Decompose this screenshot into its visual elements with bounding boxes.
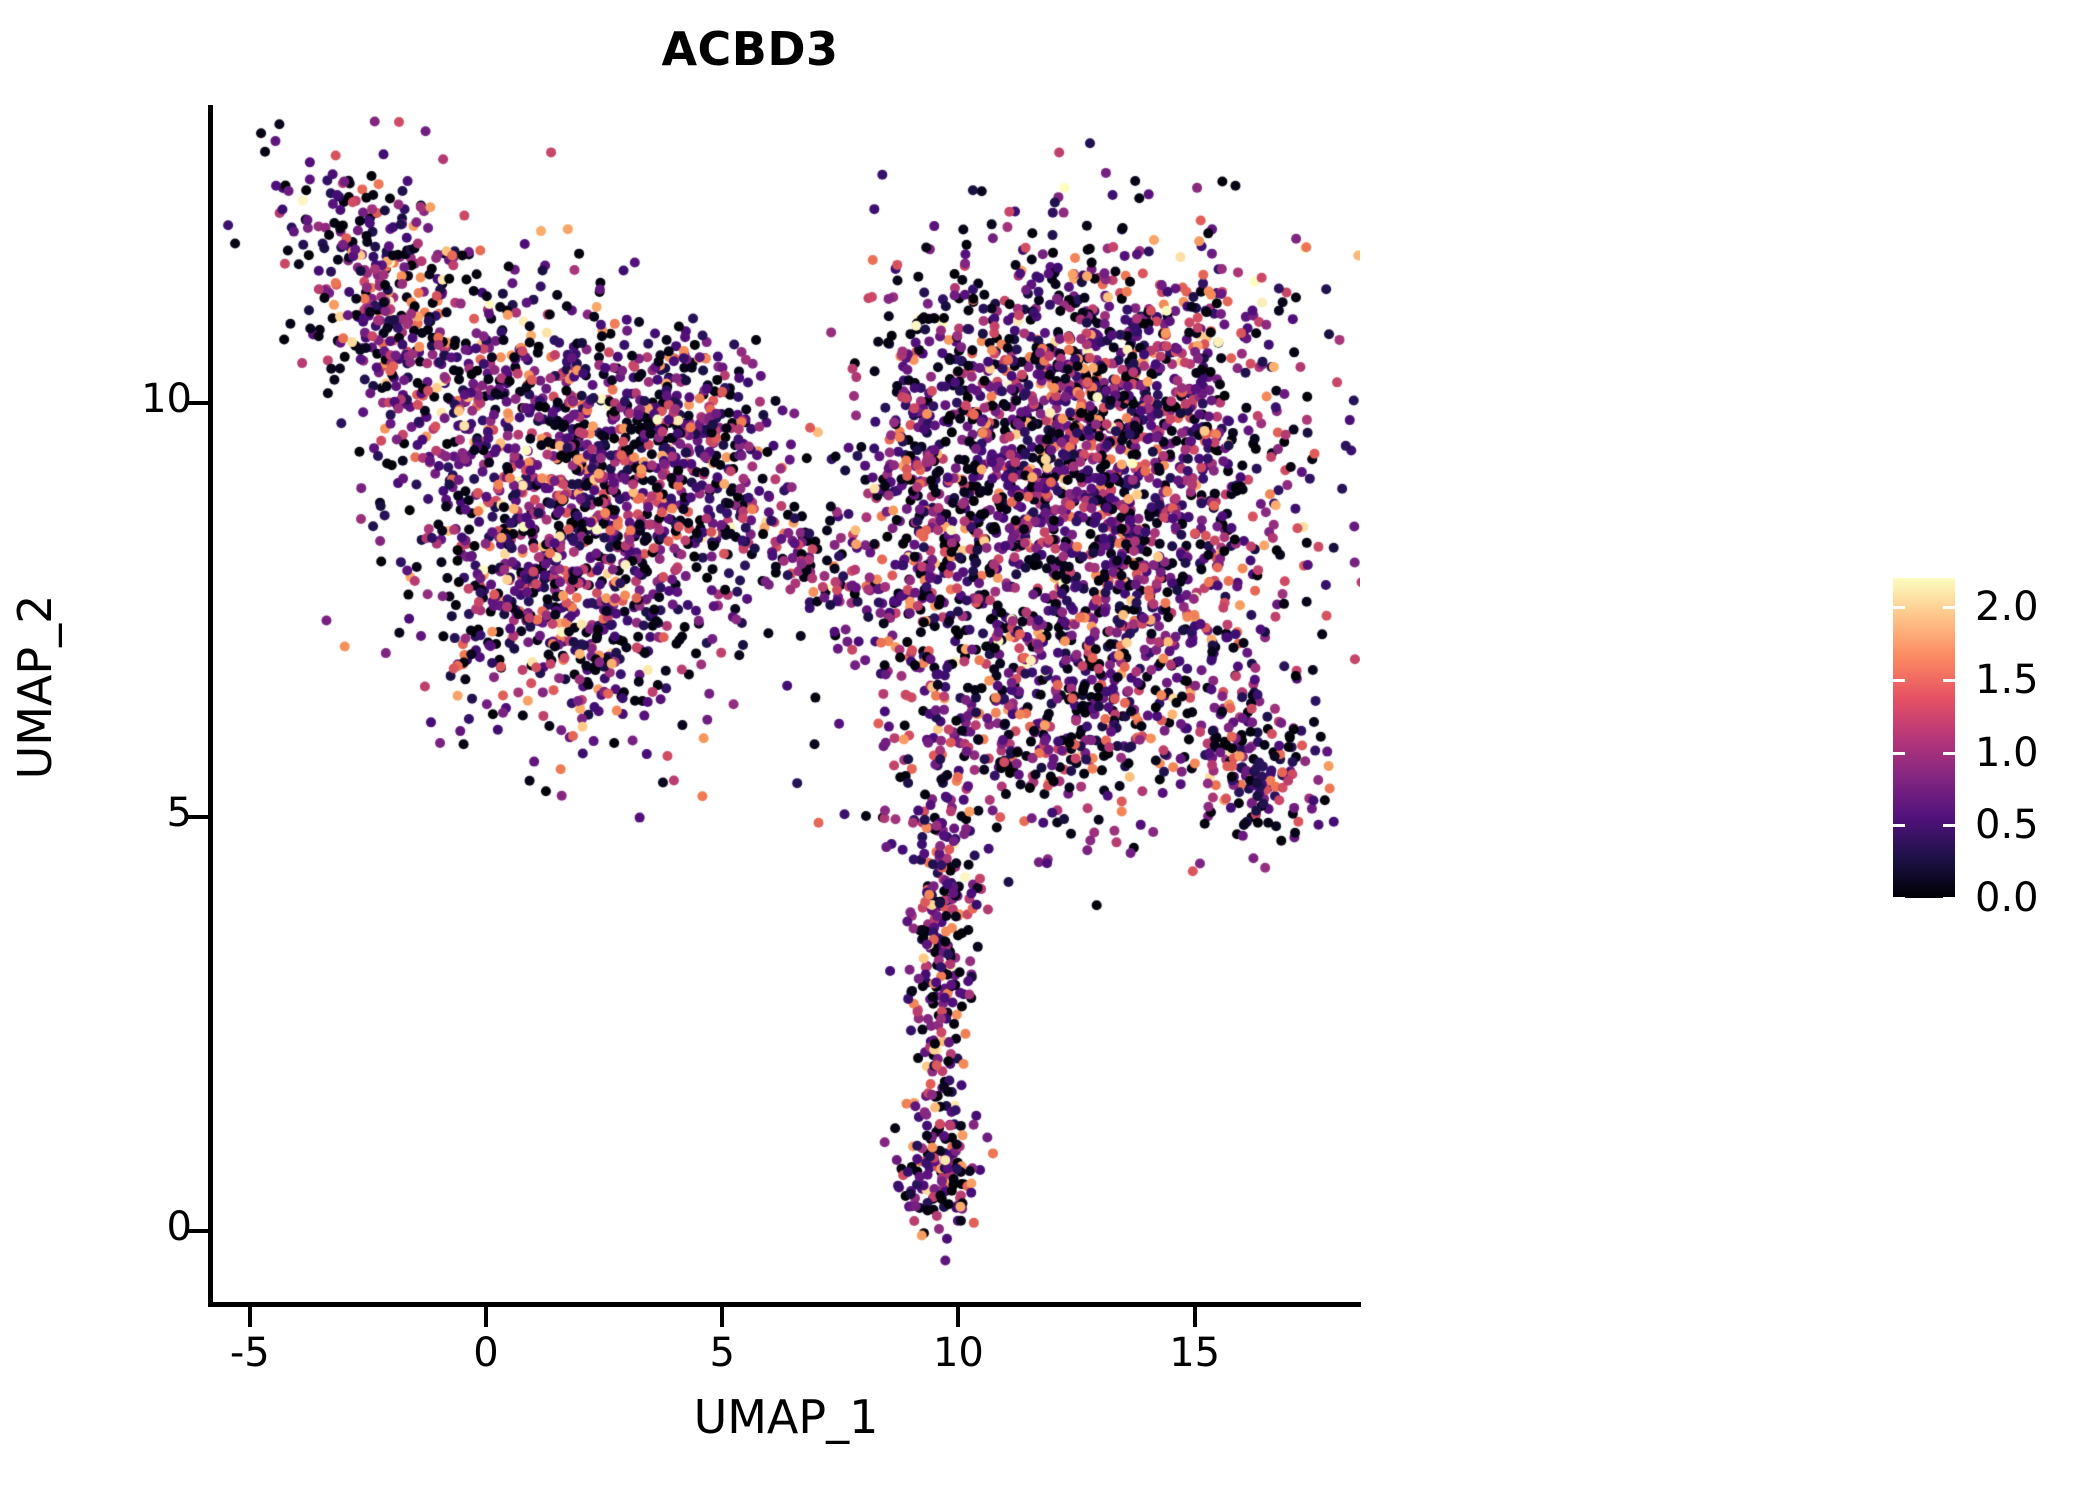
y-tick-label: 10 (141, 376, 192, 422)
y-axis-label: UMAP_2 (8, 387, 62, 987)
colorbar-tick-label: 0.0 (1975, 875, 2039, 921)
colorbar-tick-label: 1.5 (1975, 657, 2039, 703)
x-axis-label: UMAP_1 (212, 1390, 1360, 1444)
colorbar-tick-mark (1893, 752, 1905, 755)
y-tick-label: 0 (167, 1204, 192, 1250)
colorbar-tick-mark (1943, 606, 1955, 609)
colorbar-tick-mark (1893, 606, 1905, 609)
colorbar-tick-mark (1943, 824, 1955, 827)
x-tick-label: 15 (1169, 1330, 1220, 1376)
y-axis-spine (208, 105, 213, 1307)
x-tick-label: -5 (230, 1330, 270, 1376)
colorbar-tick-label: 0.5 (1975, 802, 2039, 848)
x-tick-mark (484, 1306, 488, 1327)
colorbar-tick-mark (1893, 679, 1905, 682)
colorbar-tick-mark (1893, 897, 1905, 900)
colorbar-tick-mark (1943, 752, 1955, 755)
x-tick-label: 10 (933, 1330, 984, 1376)
colorbar-tick-label: 2.0 (1975, 584, 2039, 630)
x-axis-spine (208, 1302, 1361, 1307)
x-tick-label: 5 (709, 1330, 734, 1376)
colorbar-tick-mark (1943, 679, 1955, 682)
x-tick-label: 0 (473, 1330, 498, 1376)
x-tick-mark (1193, 1306, 1197, 1327)
colorbar (1893, 578, 1955, 898)
colorbar-gradient (1893, 578, 1955, 898)
y-tick-label: 5 (167, 790, 192, 836)
page-title: ACBD3 (0, 22, 1500, 76)
x-tick-mark (956, 1306, 960, 1327)
colorbar-tick-label: 1.0 (1975, 730, 2039, 776)
umap-feature-plot: ACBD3 0510 -5051015 UMAP_2 UMAP_1 0.00.5… (0, 0, 2100, 1500)
x-tick-mark (720, 1306, 724, 1327)
scatter-plot-canvas (212, 105, 1360, 1305)
colorbar-tick-mark (1893, 824, 1905, 827)
colorbar-tick-mark (1943, 897, 1955, 900)
x-tick-mark (248, 1306, 252, 1327)
